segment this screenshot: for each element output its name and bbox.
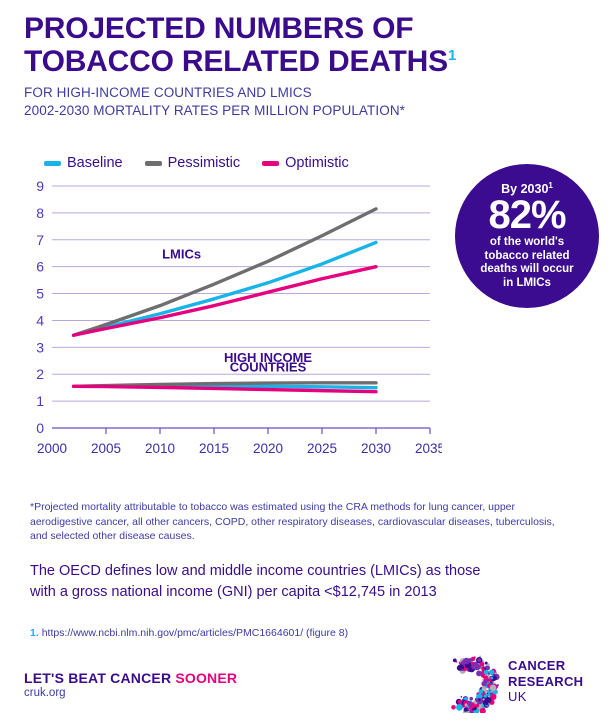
legend-label-pessimistic: Pessimistic xyxy=(168,155,241,171)
y-axis-tick-2: 2 xyxy=(36,366,44,382)
subtitle-line-2: 2002-2030 MORTALITY RATES PER MILLION PO… xyxy=(24,103,405,118)
badge-description: of the world's tobacco related deaths wi… xyxy=(480,236,573,290)
page-subtitle: FOR HIGH-INCOME COUNTRIES AND LMICS 2002… xyxy=(24,84,494,120)
cancer-research-uk-logo: CANCER RESEARCH UK xyxy=(438,655,588,717)
y-axis-tick-1: 1 xyxy=(36,393,44,409)
legend-item-optimistic: Optimistic xyxy=(262,155,349,171)
logo-c-mark-icon xyxy=(438,655,502,713)
legend-swatch-pessimistic xyxy=(145,161,162,166)
legend-label-optimistic: Optimistic xyxy=(285,155,349,171)
logo-wordmark: CANCER RESEARCH UK xyxy=(508,658,583,705)
y-axis-tick-3: 3 xyxy=(36,339,44,355)
x-axis-tick-2025: 2025 xyxy=(307,441,337,456)
title-line-1: PROJECTED NUMBERS OF xyxy=(24,12,413,45)
chart-annotation-2: COUNTRIES xyxy=(230,360,307,375)
chart-svg: 0123456789200020052010201520202025203020… xyxy=(22,178,442,478)
series-line-pessimistic-lmics xyxy=(74,209,376,335)
legend-label-baseline: Baseline xyxy=(67,155,123,171)
y-axis-tick-7: 7 xyxy=(36,232,44,248)
legend-swatch-optimistic xyxy=(262,161,279,166)
page-title: PROJECTED NUMBERS OF TOBACCO RELATED DEA… xyxy=(24,12,494,78)
subtitle-line-1: FOR HIGH-INCOME COUNTRIES AND LMICS xyxy=(24,85,312,100)
reference-url[interactable]: https://www.ncbi.nlm.nih.gov/pmc/article… xyxy=(42,627,348,639)
title-footnote-marker: 1 xyxy=(448,47,456,64)
chart-annotation-0: LMICs xyxy=(162,247,201,262)
infographic-root: PROJECTED NUMBERS OF TOBACCO RELATED DEA… xyxy=(0,0,611,723)
tagline-main: LET'S BEAT CANCER xyxy=(24,670,175,686)
x-axis-tick-2010: 2010 xyxy=(145,441,175,456)
y-axis-tick-6: 6 xyxy=(36,259,44,275)
x-axis-tick-2015: 2015 xyxy=(199,441,229,456)
y-axis-tick-8: 8 xyxy=(36,205,44,221)
oecd-line-1: The OECD defines low and middle income c… xyxy=(30,563,481,579)
statistic-badge: By 20301 82% of the world's tobacco rela… xyxy=(455,164,599,308)
chart-legend: Baseline Pessimistic Optimistic xyxy=(44,155,349,171)
oecd-line-2: with a gross national income (GNI) per c… xyxy=(30,584,437,600)
logo-line-2: RESEARCH xyxy=(508,674,583,689)
source-reference: 1. https://www.ncbi.nlm.nih.gov/pmc/arti… xyxy=(30,626,575,640)
logo-line-3: UK xyxy=(508,689,527,704)
x-axis-tick-2035: 2035 xyxy=(415,441,442,456)
y-axis-tick-9: 9 xyxy=(36,178,44,194)
methodology-note: *Projected mortality attributable to tob… xyxy=(30,500,575,544)
badge-footnote-marker: 1 xyxy=(548,181,552,190)
logo-line-1: CANCER xyxy=(508,658,565,673)
website-url[interactable]: cruk.org xyxy=(24,687,66,699)
legend-item-pessimistic: Pessimistic xyxy=(145,155,241,171)
x-axis-tick-2005: 2005 xyxy=(91,441,121,456)
legend-swatch-baseline xyxy=(44,161,61,166)
oecd-definition: The OECD defines low and middle income c… xyxy=(30,561,585,603)
x-axis-tick-2030: 2030 xyxy=(361,441,391,456)
line-chart: 0123456789200020052010201520202025203020… xyxy=(22,178,442,478)
legend-item-baseline: Baseline xyxy=(44,155,123,171)
title-line-2: TOBACCO RELATED DEATHS xyxy=(24,45,448,78)
y-axis-tick-5: 5 xyxy=(36,286,44,302)
y-axis-tick-0: 0 xyxy=(36,420,44,436)
series-line-optimistic-lmics xyxy=(74,267,376,336)
brand-tagline: LET'S BEAT CANCER SOONER xyxy=(24,670,237,686)
reference-number: 1. xyxy=(30,627,39,639)
badge-line-3: deaths will occur xyxy=(480,263,573,275)
badge-percentage: 82% xyxy=(488,195,565,235)
badge-line-4: in LMICs xyxy=(503,277,551,289)
badge-line-2: tobacco related xyxy=(485,250,570,262)
tagline-accent: SOONER xyxy=(175,670,237,686)
x-axis-tick-2000: 2000 xyxy=(37,441,67,456)
x-axis-tick-2020: 2020 xyxy=(253,441,283,456)
badge-line-1: of the world's xyxy=(490,236,564,248)
y-axis-tick-4: 4 xyxy=(36,312,44,328)
